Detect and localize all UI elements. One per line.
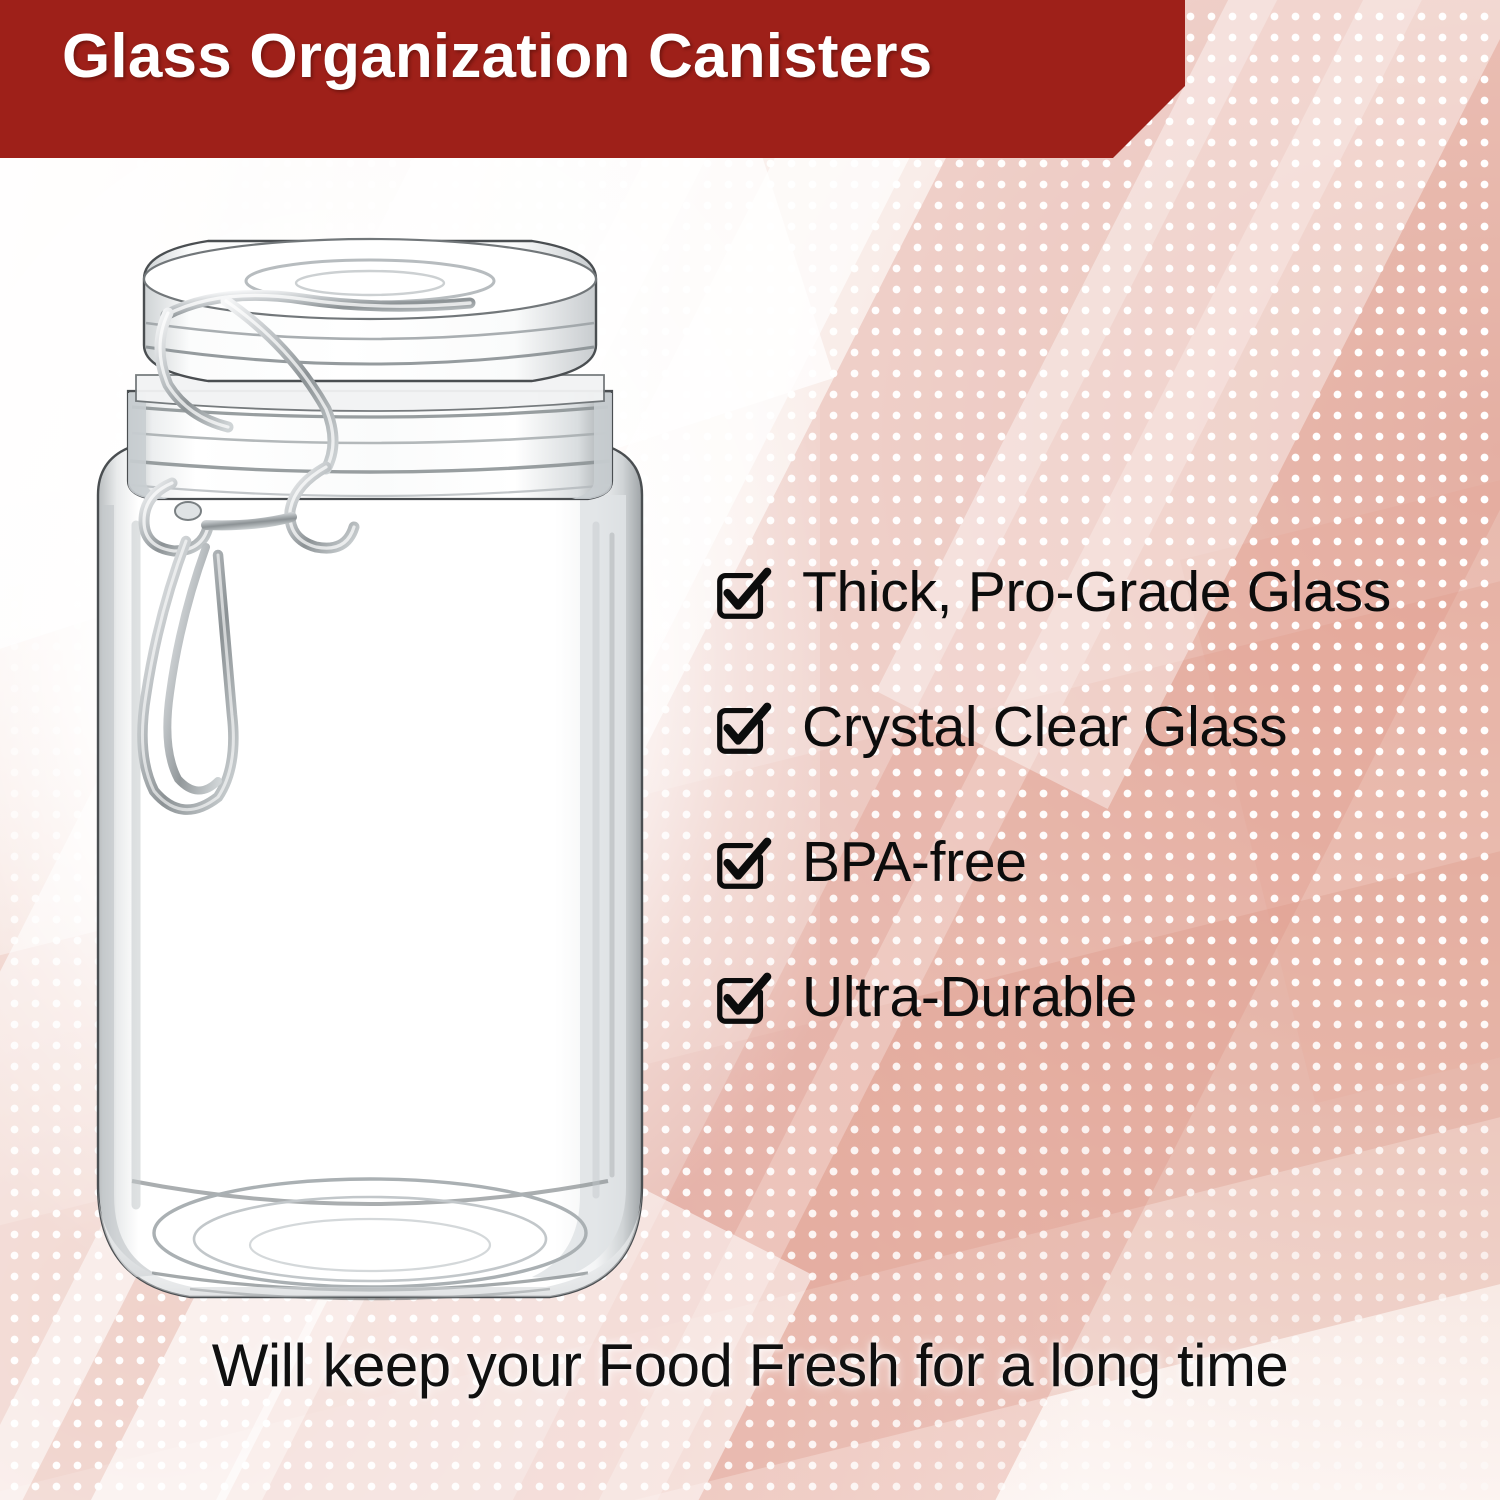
checkbox-checked-icon (712, 832, 774, 894)
feature-label: Ultra-Durable (802, 969, 1137, 1026)
feature-list: Thick, Pro-Grade Glass Crystal Clear Gla… (712, 548, 1482, 1041)
header-banner: Glass Organization Canisters (0, 0, 1185, 158)
tagline: Will keep your Food Fresh for a long tim… (0, 1336, 1500, 1396)
page-title: Glass Organization Canisters (62, 26, 932, 88)
checkbox-checked-icon (712, 697, 774, 759)
checkbox-checked-icon (712, 562, 774, 624)
feature-label: Thick, Pro-Grade Glass (802, 564, 1391, 621)
list-item: Ultra-Durable (712, 953, 1482, 1041)
product-image-glass-canister-jar (40, 195, 740, 1315)
checkbox-checked-icon (712, 967, 774, 1029)
product-infographic: Glass Organization Canisters (0, 0, 1500, 1500)
list-item: Thick, Pro-Grade Glass (712, 548, 1482, 636)
feature-label: Crystal Clear Glass (802, 699, 1287, 756)
list-item: Crystal Clear Glass (712, 683, 1482, 771)
list-item: BPA-free (712, 818, 1482, 906)
feature-label: BPA-free (802, 834, 1027, 891)
